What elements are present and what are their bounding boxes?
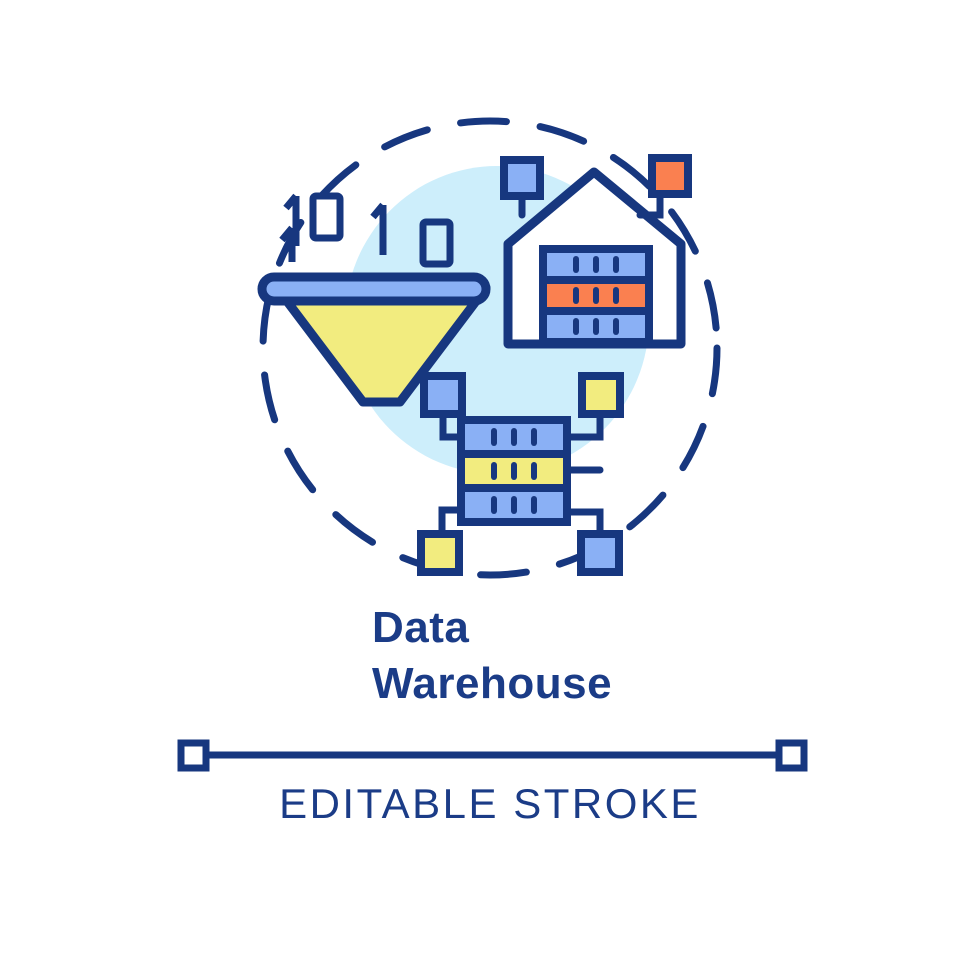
node-square-orange-top <box>652 158 688 194</box>
server-rack-bottom <box>461 420 567 522</box>
server-rack-top <box>543 249 649 342</box>
concept-title: Data Warehouse <box>0 600 980 712</box>
node-square-blue-left <box>424 376 462 414</box>
square-handle-left[interactable] <box>181 743 206 768</box>
title-line-2: Warehouse <box>372 656 980 712</box>
square-handle-right[interactable] <box>779 743 804 768</box>
illustration-area <box>0 0 980 600</box>
title-line-1: Data <box>372 600 980 656</box>
funnel-rim <box>262 277 486 301</box>
editable-stroke-caption: EDITABLE STROKE <box>0 780 980 828</box>
node-square-blue-bottom-right <box>581 534 619 572</box>
node-square-yellow-bottom-left <box>421 534 459 572</box>
data-warehouse-illustration <box>0 0 980 600</box>
node-square-yellow-right <box>582 376 620 414</box>
concept-icon-canvas: Data Warehouse EDITABLE STROKE <box>0 0 980 980</box>
node-square-blue-top <box>504 160 540 196</box>
